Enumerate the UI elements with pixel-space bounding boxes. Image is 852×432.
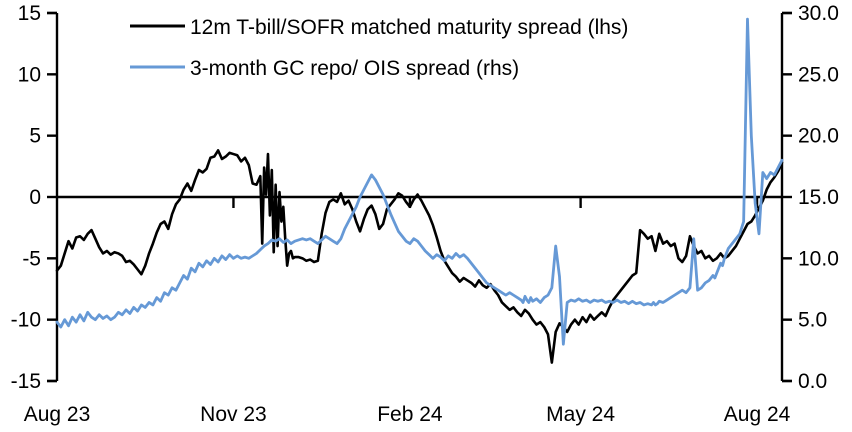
x-axis-tick-label: Aug 24 xyxy=(724,403,791,426)
right-axis-tick-label: 15.0 xyxy=(798,186,839,209)
left-axis-tick-label: 0 xyxy=(29,186,41,209)
left-axis-tick-label: -5 xyxy=(22,247,41,270)
x-axis-tick-label: Feb 24 xyxy=(377,403,443,426)
right-axis-tick-label: 10.0 xyxy=(798,247,839,270)
x-axis-tick-label: Aug 23 xyxy=(24,403,91,426)
x-axis-tick-label: Nov 23 xyxy=(200,403,267,426)
right-axis-tick-label: 5.0 xyxy=(798,309,827,332)
right-axis-tick-label: 30.0 xyxy=(798,2,839,25)
chart-svg: 151050-5-10-15 30.025.020.015.010.05.00.… xyxy=(0,0,852,432)
left-axis-tick-label: 10 xyxy=(18,63,41,86)
legend-label-gc-repo-ois: 3-month GC repo/ OIS spread (rhs) xyxy=(190,57,519,80)
right-axis-tick-label: 20.0 xyxy=(798,125,839,148)
x-axis-tick-label: May 24 xyxy=(546,403,615,426)
right-axis-tick-label: 0.0 xyxy=(798,370,827,393)
right-axis-tick-label: 25.0 xyxy=(798,63,839,86)
left-axis-tick-label: 15 xyxy=(18,2,41,25)
chart-container: 151050-5-10-15 30.025.020.015.010.05.00.… xyxy=(0,0,852,432)
left-axis-tick-label: 5 xyxy=(29,125,41,148)
legend-label-tbill-sofr: 12m T-bill/SOFR matched maturity spread … xyxy=(190,16,628,39)
left-axis-tick-label: -10 xyxy=(11,309,41,332)
left-axis-tick-label: -15 xyxy=(11,370,41,393)
